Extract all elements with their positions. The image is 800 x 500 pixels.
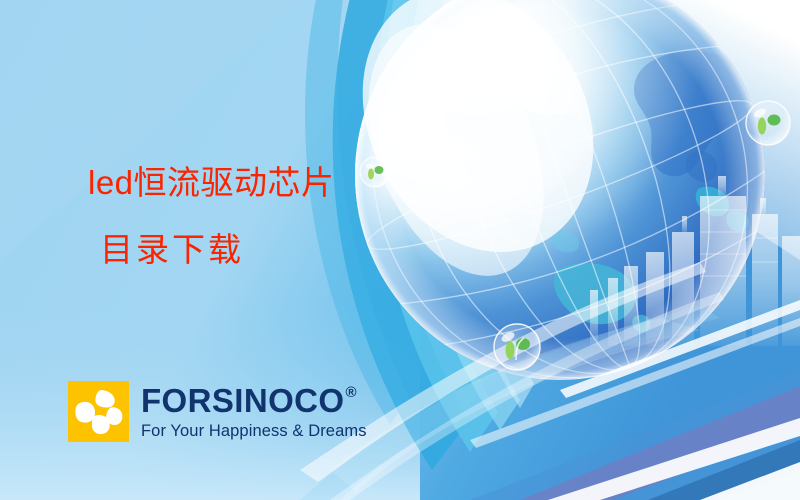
led-catalog-banner: led恒流驱动芯片 目录下载 FORSINOCO ®	[0, 0, 800, 500]
logo-text-block: FORSINOCO ® For Your Happiness & Dreams	[141, 381, 367, 440]
pinwheel-four-petal-icon	[68, 381, 129, 442]
city-skyline-silhouette	[590, 176, 800, 346]
sparkle-asterisk-left	[402, 145, 428, 171]
bubble-sprout-right	[746, 101, 790, 145]
sparkle-asterisk-right	[379, 125, 399, 145]
brand-name: FORSINOCO	[141, 384, 344, 417]
headline-text: led恒流驱动芯片 目录下载	[88, 166, 335, 266]
registered-trademark-icon: ®	[345, 385, 356, 400]
headline-line-1: led恒流驱动芯片	[88, 166, 335, 199]
bubble-sprout-mid	[494, 324, 540, 370]
brand-wordmark: FORSINOCO ®	[141, 384, 367, 417]
headline-line-2: 目录下载	[100, 233, 335, 266]
diagonal-stripe-decoration	[470, 300, 800, 500]
earth-globe-icon	[316, 0, 800, 431]
brand-logo: FORSINOCO ® For Your Happiness & Dreams	[68, 381, 367, 442]
logo-mark-tile	[68, 381, 129, 442]
bubble-sprout-top	[360, 157, 390, 187]
brand-tagline: For Your Happiness & Dreams	[141, 423, 367, 440]
